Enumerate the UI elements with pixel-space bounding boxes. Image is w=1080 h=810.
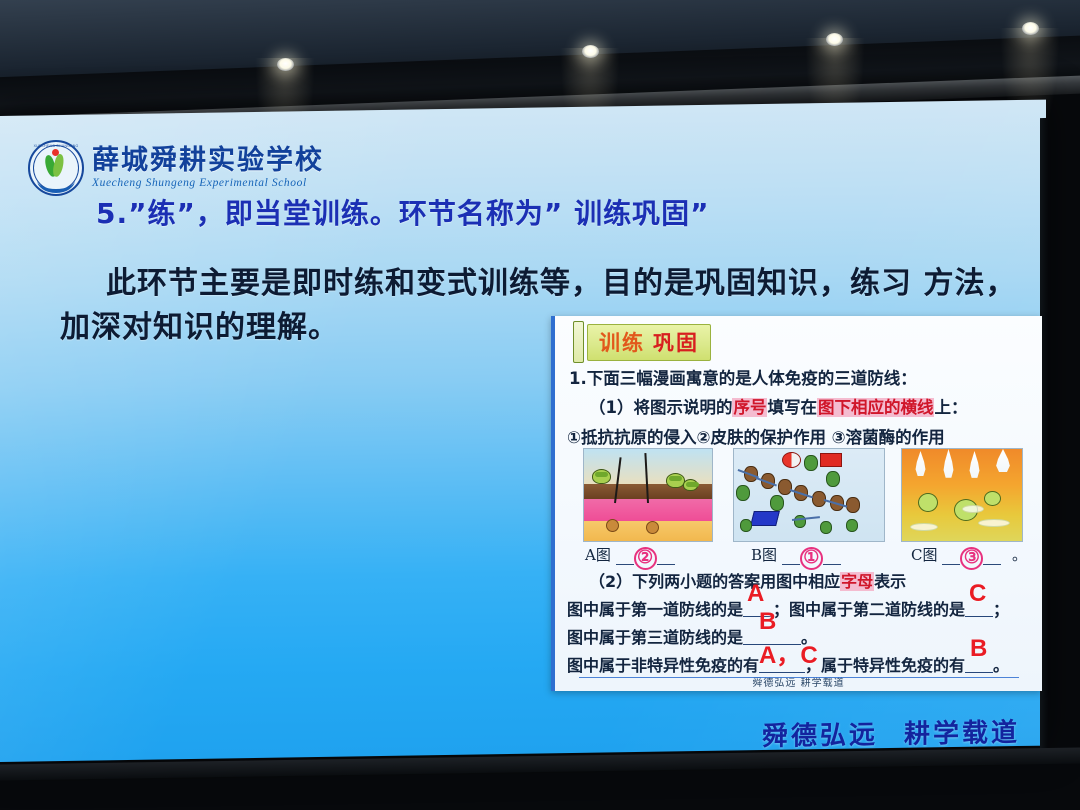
answer-row-1: 图中属于第一道防线的是A ；图中属于第二道防线的是C ；	[567, 596, 1009, 620]
germ-icon	[984, 491, 1001, 506]
puddle-icon	[978, 519, 1010, 527]
answer-row-3-text-b: 属于特异性免疫的有	[821, 656, 965, 675]
lymphocyte-icon	[736, 485, 750, 501]
answer-row-3-tail: 。	[993, 656, 1009, 675]
ceiling	[0, 0, 1080, 86]
motto-right: 耕学载道	[904, 718, 1020, 750]
lymphocyte-icon	[770, 495, 784, 511]
sub2-pre: （2）下列两小题的答案用图中相应	[589, 572, 840, 591]
lymphocyte-icon	[740, 519, 752, 532]
cartoon-c-caption: C图 ③ 。	[911, 544, 1027, 570]
exercise-tag-box: 训练巩固	[587, 324, 711, 361]
exercise-tag: 训练巩固	[573, 321, 711, 363]
cartoon-a-caption: A图 ②	[585, 544, 675, 570]
exercise-tag-word-1: 训练	[599, 331, 645, 355]
sub2-highlight: 字母	[840, 572, 874, 591]
follicle-icon	[606, 519, 619, 532]
answer-row-1-value-b: C	[969, 580, 986, 608]
emblem-arc	[37, 167, 75, 193]
exercise-footer-rule	[579, 677, 1019, 678]
school-name-cn: 薛城舜耕实验学校	[92, 147, 324, 174]
ceiling-spotlight-icon	[1022, 22, 1039, 35]
ceiling-spotlight-icon	[277, 58, 294, 71]
motto-left: 舜德弘远	[762, 720, 878, 752]
puddle-icon	[910, 523, 938, 531]
exercise-question-1: 1.下面三幅漫画寓意的是人体免疫的三道防线：	[569, 365, 917, 389]
antigen-ball-icon	[782, 452, 801, 468]
exercise-options: ①抵抗抗原的侵入②皮肤的保护作用 ③溶菌酶的作用	[567, 424, 945, 448]
sub2-post: 表示	[874, 572, 906, 591]
sub1-pre: （1）将图示说明的	[589, 398, 732, 417]
exercise-tag-word-2: 巩固	[653, 331, 699, 355]
answer-row-1-value-a: A	[747, 580, 764, 608]
classroom-scene: XUECHENG SHUNGENG 薛城舜耕实验学校 Xuecheng Shun…	[0, 0, 1080, 810]
lysozyme-cartoon	[901, 448, 1023, 542]
lymphocyte-icon	[820, 521, 832, 534]
school-name-en: Xuecheng Shungeng Experimental School	[92, 177, 324, 189]
sub1-highlight-2: 图下相应的横线	[817, 398, 935, 417]
exercise-panel: 训练巩固 1.下面三幅漫画寓意的是人体免疫的三道防线： （1）将图示说明的序号填…	[551, 316, 1042, 691]
cartoon-a-answer: ②	[634, 547, 657, 570]
answer-row-3-text-a: 图中属于非特异性免疫的有	[567, 656, 759, 675]
slide-motto: 舜德弘远耕学载道	[762, 712, 1020, 753]
cartoon-b-answer: ①	[800, 547, 823, 570]
red-flag-icon	[820, 453, 842, 467]
exercise-sub-1: （1）将图示说明的序号填写在图下相应的横线上：	[589, 394, 967, 418]
cartoon-b-label: B图	[751, 546, 777, 564]
lymphocyte-icon	[846, 519, 858, 532]
pathogen-icon	[778, 479, 792, 495]
skin-barrier-cartoon	[583, 448, 713, 542]
answer-row-1-text-a: 图中属于第一道防线的是	[567, 600, 743, 619]
cartoon-b-caption: B图 ①	[751, 544, 841, 570]
answer-row-3-value-a: A，C	[759, 635, 818, 670]
slide-body-line-1: 此环节主要是即时练和变式训练等，目的是巩固知识，练习	[106, 266, 912, 301]
cartoon-c-answer: ③	[960, 547, 983, 570]
cartoon-a-label: A图	[585, 546, 611, 564]
cartoon-c-label: C图	[911, 546, 937, 564]
emblem-ring-text: XUECHENG SHUNGENG	[30, 144, 82, 148]
school-brand: XUECHENG SHUNGENG 薛城舜耕实验学校 Xuecheng Shun…	[28, 140, 324, 196]
pathogen-icon	[846, 497, 860, 513]
immune-battle-cartoon	[733, 448, 885, 542]
ceiling-spotlight-icon	[826, 33, 843, 46]
germ-icon	[918, 493, 938, 512]
school-emblem-icon: XUECHENG SHUNGENG	[28, 140, 84, 196]
answer-row-2-text-a: 图中属于第三道防线的是	[567, 628, 743, 647]
sub1-highlight-1: 序号	[732, 398, 767, 417]
slide-heading: 5.”练”，即当堂训练。环节名称为” 训练巩固”	[96, 192, 709, 232]
answer-row-3: 图中属于非特异性免疫的有A，C ，属于特异性免疫的有B 。	[567, 652, 1009, 676]
blue-flag-icon	[750, 511, 780, 526]
answer-row-1-text-b: 图中属于第二道防线的是	[789, 600, 965, 619]
germ-icon	[683, 479, 698, 491]
cartoon-row: A图 ② B图 ① C图 ③ 。	[563, 448, 1035, 544]
answer-row-2-value-a: B	[759, 608, 776, 636]
pencil-icon	[573, 321, 584, 363]
sub1-mid: 填写在	[767, 398, 817, 417]
lymphocyte-icon	[826, 471, 840, 487]
answer-row-1-tail: ；	[993, 600, 1009, 619]
germ-icon	[592, 469, 611, 484]
ceiling-spotlight-icon	[582, 45, 599, 58]
sub1-post: 上：	[934, 398, 967, 417]
follicle-icon	[646, 521, 659, 534]
answer-row-3-value-b: B	[970, 635, 987, 663]
cartoon-end-mark: 。	[1012, 546, 1027, 564]
puddle-icon	[962, 505, 984, 513]
lymphocyte-icon	[804, 455, 818, 471]
